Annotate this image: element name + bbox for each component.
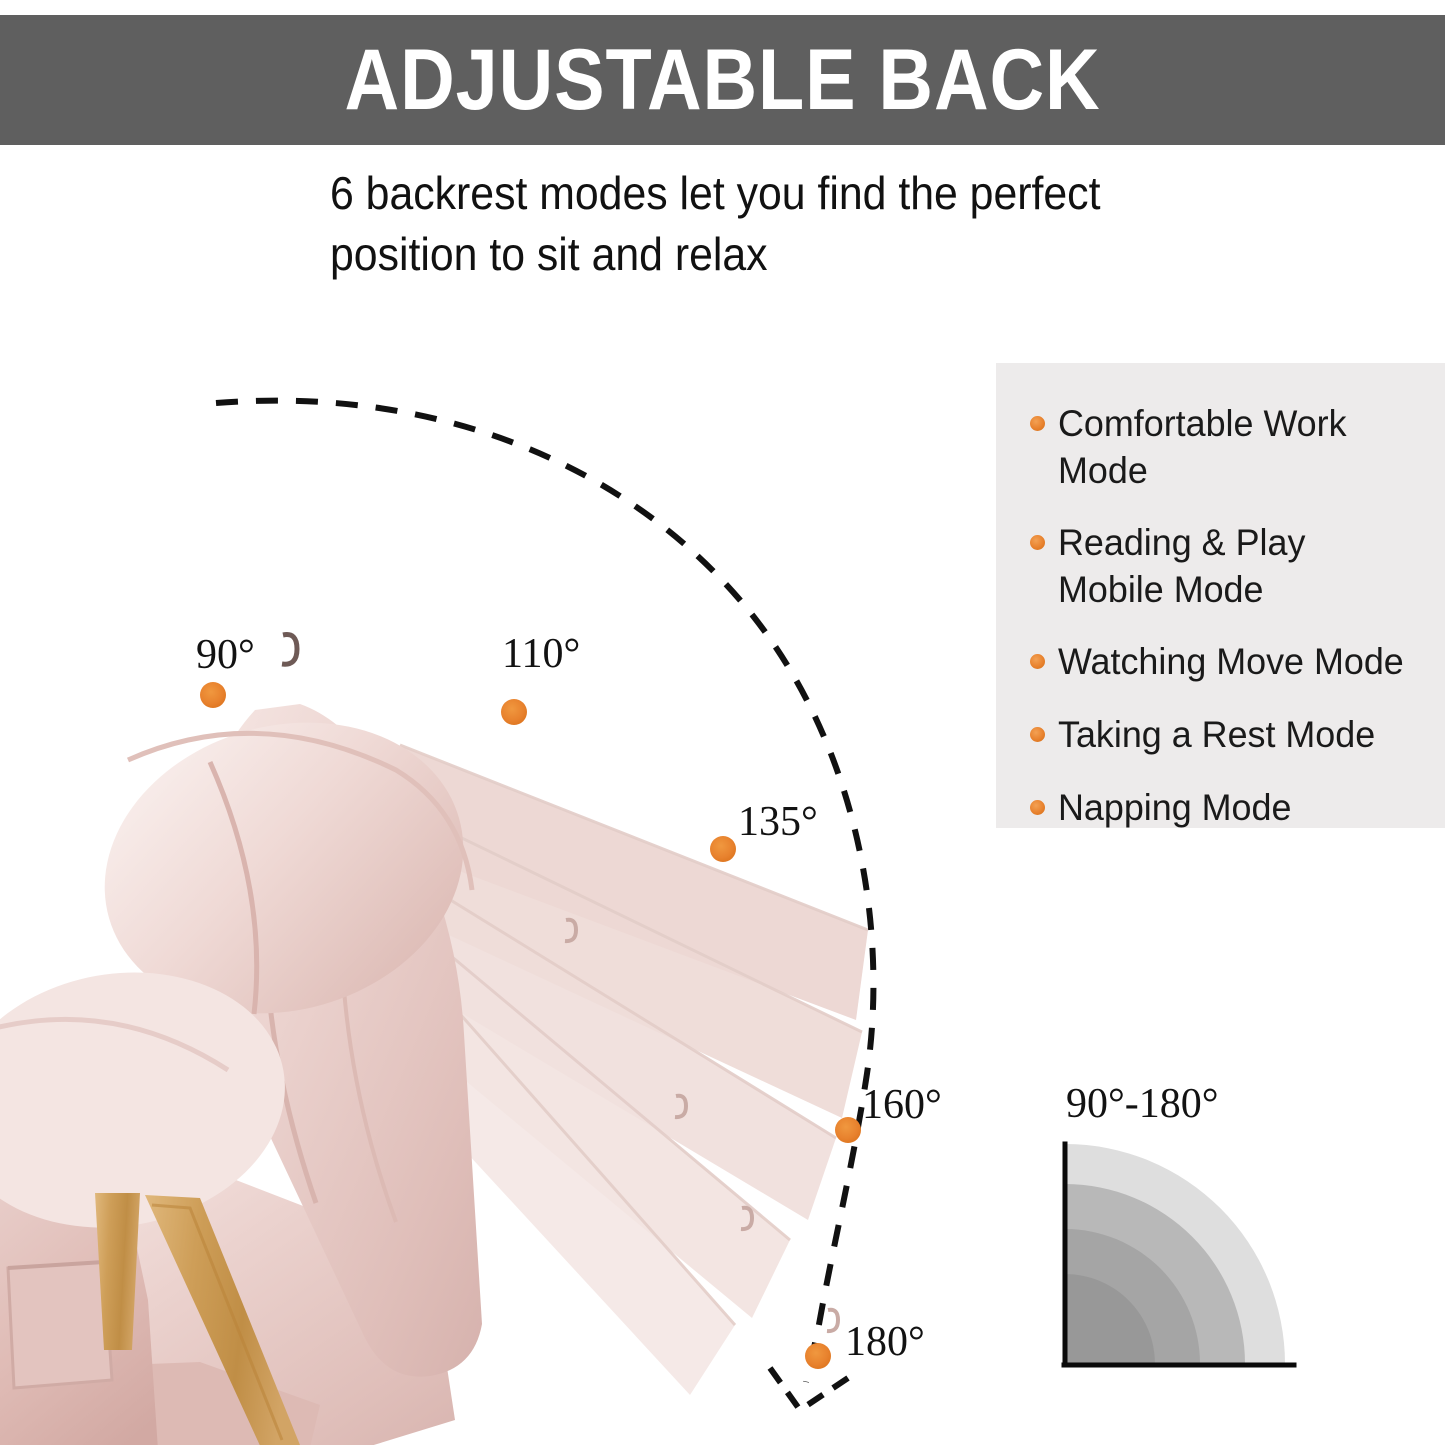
list-item: Napping Mode <box>996 785 1445 832</box>
subtitle-text: 6 backrest modes let you find the perfec… <box>330 163 1102 284</box>
mode-list-panel: Comfortable Work Mode Reading & Play Mob… <box>996 363 1445 828</box>
angle-label-110: 110° <box>502 630 580 678</box>
angle-label-160: 160° <box>862 1081 942 1129</box>
angle-range-diagram: 90°-180° <box>1050 1080 1380 1380</box>
angle-label-180: 180° <box>845 1318 925 1366</box>
bullet-dot-icon <box>1030 727 1045 742</box>
mode-label: Napping Mode <box>1058 785 1291 832</box>
mode-label: Reading & Play Mobile Mode <box>1058 520 1418 613</box>
range-bands <box>1065 1144 1285 1364</box>
bullet-dot-icon <box>1030 800 1045 815</box>
angle-label-90: 90° <box>196 631 255 679</box>
angle-dot-90 <box>200 682 226 708</box>
bullet-dot-icon <box>1030 416 1045 431</box>
bullet-dot-icon <box>1030 535 1045 550</box>
quarter-circle-graphic <box>1050 1136 1350 1376</box>
angle-dot-110 <box>501 699 527 725</box>
angle-dot-160 <box>835 1117 861 1143</box>
list-item: Reading & Play Mobile Mode <box>996 520 1445 613</box>
arc-dashed-path <box>216 401 873 1382</box>
header-band: ADJUSTABLE BACK <box>0 15 1445 145</box>
angle-label-135: 135° <box>738 798 818 846</box>
angle-range-label: 90°-180° <box>1066 1080 1219 1128</box>
angle-dot-180 <box>805 1343 831 1369</box>
list-item: Watching Move Mode <box>996 639 1445 686</box>
mode-label: Watching Move Mode <box>1058 639 1404 686</box>
angle-dot-135 <box>710 836 736 862</box>
page-title: ADJUSTABLE BACK <box>344 37 1100 123</box>
mode-list: Comfortable Work Mode Reading & Play Mob… <box>996 363 1445 831</box>
list-item: Taking a Rest Mode <box>996 712 1445 759</box>
list-item: Comfortable Work Mode <box>996 401 1445 494</box>
bullet-dot-icon <box>1030 654 1045 669</box>
mode-label: Taking a Rest Mode <box>1058 712 1375 759</box>
arc-arrowhead <box>770 1368 848 1410</box>
mode-label: Comfortable Work Mode <box>1058 401 1418 494</box>
